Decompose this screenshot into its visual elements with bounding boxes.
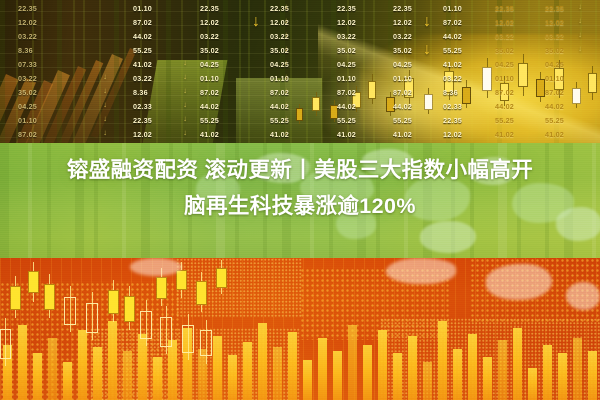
column-line	[73, 0, 75, 143]
ticker-value: 01.10	[545, 74, 564, 83]
ticker-value: 44.02	[337, 102, 356, 111]
volume-bar	[243, 342, 252, 400]
ticker-value: 44.02	[133, 32, 152, 41]
candle-body	[140, 311, 152, 339]
volume-bar	[78, 330, 87, 400]
ticker-value: 03.22	[200, 32, 219, 41]
ticker-value: 87.02	[393, 88, 412, 97]
ticker-value: 44.02	[545, 102, 564, 111]
ticker-value: 55.25	[393, 116, 412, 125]
ticker-value: 22.35	[18, 4, 37, 13]
candle-body	[108, 290, 119, 314]
ticker-value: 04.25	[393, 60, 412, 69]
column-line	[124, 0, 126, 143]
scan-line	[283, 258, 284, 400]
ticker-value: 01.10	[443, 4, 462, 13]
ticker-value: 35.02	[18, 88, 37, 97]
ticker-value: 8.36	[18, 46, 33, 55]
ticker-value: 07.33	[18, 60, 37, 69]
ticker-value: 03.22	[133, 74, 152, 83]
ticker-value: 41.02	[200, 130, 219, 139]
headline-text: 镕盛融资配资 滚动更新丨美股三大指数小幅高开 脑再生科技暴涨逾120%	[0, 152, 600, 224]
volume-bar	[393, 353, 402, 400]
candle-body	[176, 270, 187, 290]
volume-bar	[48, 338, 57, 400]
landmass	[420, 221, 476, 253]
scan-line	[253, 258, 254, 400]
ticker-value: 22.35	[337, 4, 356, 13]
candlestick	[462, 80, 471, 108]
candlestick	[536, 72, 545, 102]
candle-body	[196, 281, 207, 305]
ticker-value: 12.02	[337, 18, 356, 27]
down-arrow-icon: ↓	[103, 101, 107, 109]
volume-bar	[213, 336, 222, 400]
headline-line-2: 脑再生科技暴涨逾120%	[0, 188, 600, 224]
candle-body	[312, 97, 320, 111]
volume-bar	[513, 328, 522, 400]
candlestick	[182, 314, 194, 360]
candle-body	[536, 79, 545, 97]
scan-line	[465, 258, 466, 400]
down-arrow-icon: ↓	[103, 73, 107, 81]
ticker-value: 22.35	[133, 116, 152, 125]
down-arrow-icon: ↓	[284, 3, 288, 11]
down-arrow-icon: ↓	[284, 115, 288, 123]
down-arrow-icon: ↓	[578, 17, 582, 25]
volume-bar	[33, 353, 42, 400]
volume-bar	[18, 325, 27, 400]
volume-chart-band	[0, 258, 600, 400]
column-line	[166, 0, 171, 143]
scan-line	[556, 258, 557, 400]
volume-bar	[93, 347, 102, 400]
down-arrow-icon: ↓	[423, 42, 431, 58]
ticker-value: 44.02	[495, 102, 514, 111]
candlestick	[0, 318, 11, 366]
ticker-value: 41.02	[443, 60, 462, 69]
down-arrow-icon: ↓	[284, 129, 288, 137]
ticker-value: 12.02	[495, 18, 514, 27]
down-arrow-icon: ↓	[284, 31, 288, 39]
ticker-value: 55.25	[200, 116, 219, 125]
column-line	[41, 0, 43, 143]
volume-bar	[63, 362, 72, 400]
landmass	[566, 282, 600, 310]
candle-body	[10, 286, 21, 310]
ticker-value: 87.02	[545, 88, 564, 97]
ticker-value: 55.25	[545, 116, 564, 125]
headline-band: 镕盛融资配资 滚动更新丨美股三大指数小幅高开 脑再生科技暴涨逾120%	[0, 143, 600, 258]
down-arrow-icon: ↓	[578, 31, 582, 39]
ticker-value: 03.22	[545, 32, 564, 41]
candlestick	[312, 92, 320, 116]
volume-bar	[228, 355, 237, 400]
candle-body	[156, 277, 167, 299]
ticker-value: 55.25	[133, 46, 152, 55]
candlestick	[160, 306, 172, 354]
candle-body	[216, 268, 227, 288]
down-arrow-icon: ↓	[183, 87, 187, 95]
ticker-value: 01.10	[133, 4, 152, 13]
ticker-value: 01.10	[495, 74, 514, 83]
down-arrow-icon: ↓	[284, 101, 288, 109]
ticker-value: 41.02	[545, 130, 564, 139]
candlestick	[108, 280, 119, 322]
ticker-value: 04.25	[495, 60, 514, 69]
ticker-value: 02.33	[443, 102, 462, 111]
volume-bar	[588, 351, 597, 400]
ticker-value: 01.10	[393, 74, 412, 83]
candle-body	[28, 271, 39, 293]
ticker-value: 44.02	[393, 102, 412, 111]
ticker-value: 01.10	[337, 74, 356, 83]
candle-body	[482, 67, 492, 91]
candle-body	[296, 108, 303, 121]
ticker-value: 41.02	[495, 130, 514, 139]
ticker-value: 87.02	[133, 18, 152, 27]
candle-body	[182, 325, 194, 353]
ticker-value: 12.02	[443, 130, 462, 139]
candlestick	[588, 66, 597, 100]
down-arrow-icon: ↓	[183, 101, 187, 109]
volume-bar	[258, 323, 267, 400]
candle-body	[200, 330, 212, 356]
volume-bar	[438, 321, 447, 400]
down-arrow-icon: ↓	[284, 59, 288, 67]
volume-bar	[423, 362, 432, 400]
volume-bar	[363, 345, 372, 400]
volume-bar	[288, 332, 297, 400]
ticker-value: 12.02	[133, 130, 152, 139]
volume-bar	[558, 353, 567, 400]
down-arrow-icon: ↓	[183, 129, 187, 137]
headline-line-1: 镕盛融资配资 滚动更新丨美股三大指数小幅高开	[67, 158, 533, 182]
column-line	[99, 0, 101, 143]
column-line	[290, 0, 292, 143]
candlestick	[44, 274, 55, 318]
volume-bar	[498, 340, 507, 400]
ticker-value: 35.02	[200, 46, 219, 55]
ticker-value: 04.25	[18, 102, 37, 111]
down-arrow-icon: ↓	[284, 73, 288, 81]
column-line	[114, 0, 119, 143]
candle-body	[572, 88, 581, 104]
ticker-value: 04.25	[337, 60, 356, 69]
volume-bar	[453, 349, 462, 400]
scan-line	[374, 258, 375, 400]
down-arrow-icon: ↓	[284, 17, 288, 25]
down-arrow-icon: ↓	[183, 115, 187, 123]
ticker-value: 12.02	[200, 18, 219, 27]
candlestick	[196, 272, 207, 312]
down-arrow-icon: ↓	[183, 73, 187, 81]
ticker-value: 44.02	[443, 32, 462, 41]
column-line	[306, 0, 308, 143]
ticker-value: 35.02	[337, 46, 356, 55]
ticker-value: 35.02	[393, 46, 412, 55]
candle-body	[424, 94, 433, 110]
volume-bar	[468, 334, 477, 400]
ticker-value: 02.33	[133, 102, 152, 111]
ticker-value: 04.25	[200, 60, 219, 69]
candlestick	[368, 74, 376, 104]
candlestick	[482, 58, 492, 98]
volume-bar	[273, 347, 282, 400]
candlestick	[124, 286, 135, 330]
scan-line	[586, 258, 587, 400]
down-arrow-icon: ↓	[252, 14, 260, 30]
down-arrow-icon: ↓	[578, 45, 582, 53]
ticker-value: 01.10	[200, 74, 219, 83]
landmass	[486, 264, 552, 300]
scan-line	[61, 258, 62, 400]
quote-board-band: 22.3512.0203.228.3607.3303.2235.0204.250…	[0, 0, 600, 143]
ticker-value: 22.35	[443, 116, 462, 125]
candle-body	[518, 63, 528, 87]
ticker-value: 22.35	[495, 4, 514, 13]
volume-bar	[483, 357, 492, 400]
scan-line	[313, 258, 314, 400]
candlestick	[64, 286, 76, 332]
volume-bar	[333, 351, 342, 400]
ticker-value: 8.36	[443, 88, 458, 97]
candlestick	[140, 300, 152, 346]
column-line	[197, 0, 199, 143]
volume-bar	[543, 345, 552, 400]
candlestick	[86, 292, 98, 340]
volume-bar	[528, 368, 537, 400]
ticker-value: 35.02	[545, 46, 564, 55]
candlestick	[28, 262, 39, 302]
ticker-value: 03.22	[443, 74, 462, 83]
volume-bar	[303, 360, 312, 400]
column-line	[0, 0, 5, 143]
down-arrow-icon: ↓	[183, 59, 187, 67]
scan-line	[343, 258, 344, 400]
candlestick	[200, 320, 212, 364]
candlestick	[10, 276, 21, 318]
ticker-value: 03.22	[18, 32, 37, 41]
ticker-value: 03.22	[393, 32, 412, 41]
column-line	[264, 0, 266, 143]
ticker-value: 01.10	[18, 116, 37, 125]
ticker-value: 41.02	[393, 130, 412, 139]
candle-body	[86, 303, 98, 333]
volume-bar	[408, 336, 417, 400]
candlestick	[518, 54, 528, 96]
ticker-value: 41.02	[133, 60, 152, 69]
ticker-value: 22.35	[200, 4, 219, 13]
candlestick	[216, 260, 227, 294]
candle-body	[588, 73, 597, 93]
ticker-value: 55.25	[495, 116, 514, 125]
volume-bar	[108, 321, 117, 400]
ticker-value: 41.02	[337, 130, 356, 139]
candle-body	[368, 81, 376, 99]
candle-body	[0, 329, 11, 359]
column-line	[57, 0, 62, 143]
volume-bar	[573, 338, 582, 400]
down-arrow-icon: ↓	[423, 14, 431, 30]
volume-bar	[123, 351, 132, 400]
ticker-value: 87.02	[495, 88, 514, 97]
column-line	[239, 0, 241, 143]
down-arrow-icon: ↓	[103, 87, 107, 95]
candlestick	[296, 104, 303, 124]
ticker-value: 12.02	[393, 18, 412, 27]
candle-body	[44, 284, 55, 310]
ticker-value: 12.02	[545, 18, 564, 27]
volume-bar	[348, 325, 357, 400]
candle-body	[124, 296, 135, 322]
ticker-value: 87.02	[337, 88, 356, 97]
ticker-value: 87.02	[200, 88, 219, 97]
landmass	[130, 258, 182, 276]
scan-line	[121, 258, 122, 400]
down-arrow-icon: ↓	[284, 45, 288, 53]
column-line	[156, 0, 158, 143]
ticker-value: 22.35	[393, 4, 412, 13]
down-arrow-icon: ↓	[578, 3, 582, 11]
ticker-value: 03.22	[18, 74, 37, 83]
ticker-value: 55.25	[337, 116, 356, 125]
volume-bar	[318, 338, 327, 400]
landmass	[386, 258, 456, 284]
candle-body	[462, 87, 471, 104]
candle-body	[160, 317, 172, 347]
volume-bar	[378, 330, 387, 400]
candlestick	[572, 82, 581, 108]
candle-body	[64, 297, 76, 325]
ticker-value: 87.02	[18, 130, 37, 139]
ticker-value: 44.02	[200, 102, 219, 111]
ticker-value: 8.36	[133, 88, 148, 97]
down-arrow-icon: ↓	[284, 87, 288, 95]
ticker-value: 35.02	[495, 46, 514, 55]
down-arrow-icon: ↓	[103, 129, 107, 137]
ticker-value: 87.02	[443, 18, 462, 27]
column-line	[248, 0, 250, 143]
ticker-value: 03.22	[337, 32, 356, 41]
ticker-value: 03.22	[495, 32, 514, 41]
ticker-value: 22.35	[545, 4, 564, 13]
ticker-value: 55.25	[443, 46, 462, 55]
ticker-value: 04.25	[545, 60, 564, 69]
down-arrow-icon: ↓	[103, 115, 107, 123]
ticker-value: 12.02	[18, 18, 37, 27]
column-line	[83, 0, 85, 143]
volume-bar	[153, 357, 162, 400]
column-line	[223, 0, 228, 143]
news-thumbnail-image: 22.3512.0203.228.3607.3303.2235.0204.250…	[0, 0, 600, 400]
candlestick	[424, 88, 433, 114]
